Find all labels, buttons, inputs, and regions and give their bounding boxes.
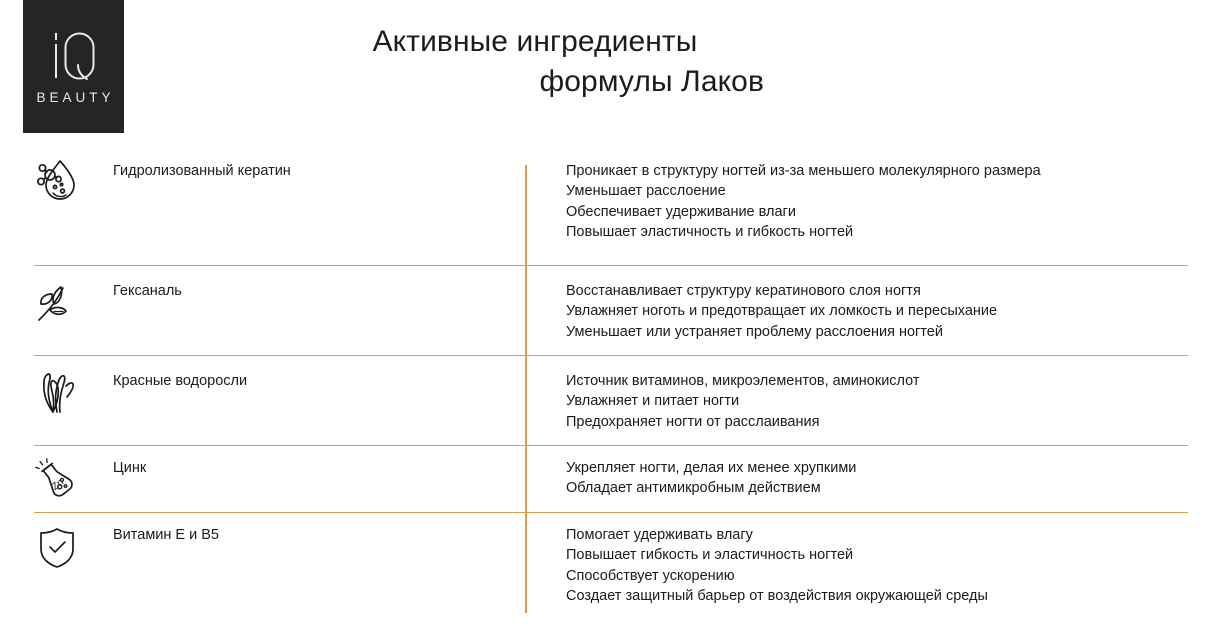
benefit-line: Укрепляет ногти, делая их менее хрупкими xyxy=(566,458,856,478)
row-divider xyxy=(34,355,1188,356)
row-divider xyxy=(34,265,1188,266)
ingredient-name: Гидролизованный кератин xyxy=(113,162,291,182)
ingredient-benefits: Укрепляет ногти, делая их менее хрупкими… xyxy=(566,458,856,499)
benefit-line: Повышает эластичность и гибкость ногтей xyxy=(566,222,1041,242)
benefit-line: Предохраняет ногти от расслаивания xyxy=(566,412,920,432)
benefit-line: Источник витаминов, микроэлементов, амин… xyxy=(566,371,920,391)
ingredient-benefits: Помогает удерживать влагу Повышает гибко… xyxy=(566,525,988,607)
benefit-line: Обладает антимикробным действием xyxy=(566,478,856,498)
benefit-line: Увлажняет ноготь и предотвращает их ломк… xyxy=(566,301,997,321)
seaweed-icon xyxy=(33,368,81,416)
ingredient-name: Витамин Е и В5 xyxy=(113,526,219,546)
benefit-line: Повышает гибкость и эластичность ногтей xyxy=(566,545,988,565)
benefit-line: Проникает в структуру ногтей из-за меньш… xyxy=(566,161,1041,181)
shield-check-icon xyxy=(33,523,81,571)
table-row: Витамин Е и В5 Помогает удерживать влагу… xyxy=(0,512,1219,640)
row-divider xyxy=(34,445,1188,446)
table-row: Zn Цинк Укрепляет ногти, делая их менее … xyxy=(0,445,1219,512)
brand-logo-wordmark: BEAUTY xyxy=(32,90,114,105)
benefit-line: Уменьшает или устраняет проблему расслое… xyxy=(566,322,997,342)
benefit-line: Способствует ускорению xyxy=(566,566,988,586)
zinc-flask-icon: Zn xyxy=(33,454,81,502)
benefit-line: Помогает удерживать влагу xyxy=(566,525,988,545)
table-row: Гексаналь Восстанавливает структуру кера… xyxy=(0,265,1219,355)
page-title: Активные ингредиенты формулы Лаков xyxy=(300,22,770,102)
ingredients-table: Гидролизованный кератин Проникает в стру… xyxy=(0,133,1219,640)
leaf-branch-icon xyxy=(33,278,81,326)
ingredient-name: Цинк xyxy=(113,459,146,479)
ingredient-name: Красные водоросли xyxy=(113,372,247,392)
page-header: BEAUTY Активные ингредиенты формулы Лако… xyxy=(0,0,1219,133)
ingredient-benefits: Источник витаминов, микроэлементов, амин… xyxy=(566,371,920,432)
ingredient-name: Гексаналь xyxy=(113,282,182,302)
brand-logo: BEAUTY xyxy=(23,0,124,133)
table-row: Гидролизованный кератин Проникает в стру… xyxy=(0,133,1219,265)
table-row: Красные водоросли Источник витаминов, ми… xyxy=(0,355,1219,445)
keratin-droplet-icon xyxy=(33,156,81,204)
row-divider xyxy=(34,512,1188,513)
benefit-line: Увлажняет и питает ногти xyxy=(566,391,920,411)
benefit-line: Уменьшает расслоение xyxy=(566,181,1041,201)
page-title-line-2: формулы Лаков xyxy=(300,62,770,102)
benefit-line: Создает защитный барьер от воздействия о… xyxy=(566,586,988,606)
iq-logo-icon xyxy=(48,29,100,85)
page-title-line-1: Активные ингредиенты xyxy=(373,25,698,58)
ingredient-benefits: Проникает в структуру ногтей из-за меньш… xyxy=(566,161,1041,243)
ingredient-benefits: Восстанавливает структуру кератинового с… xyxy=(566,281,997,342)
benefit-line: Восстанавливает структуру кератинового с… xyxy=(566,281,997,301)
benefit-line: Обеспечивает удерживание влаги xyxy=(566,202,1041,222)
